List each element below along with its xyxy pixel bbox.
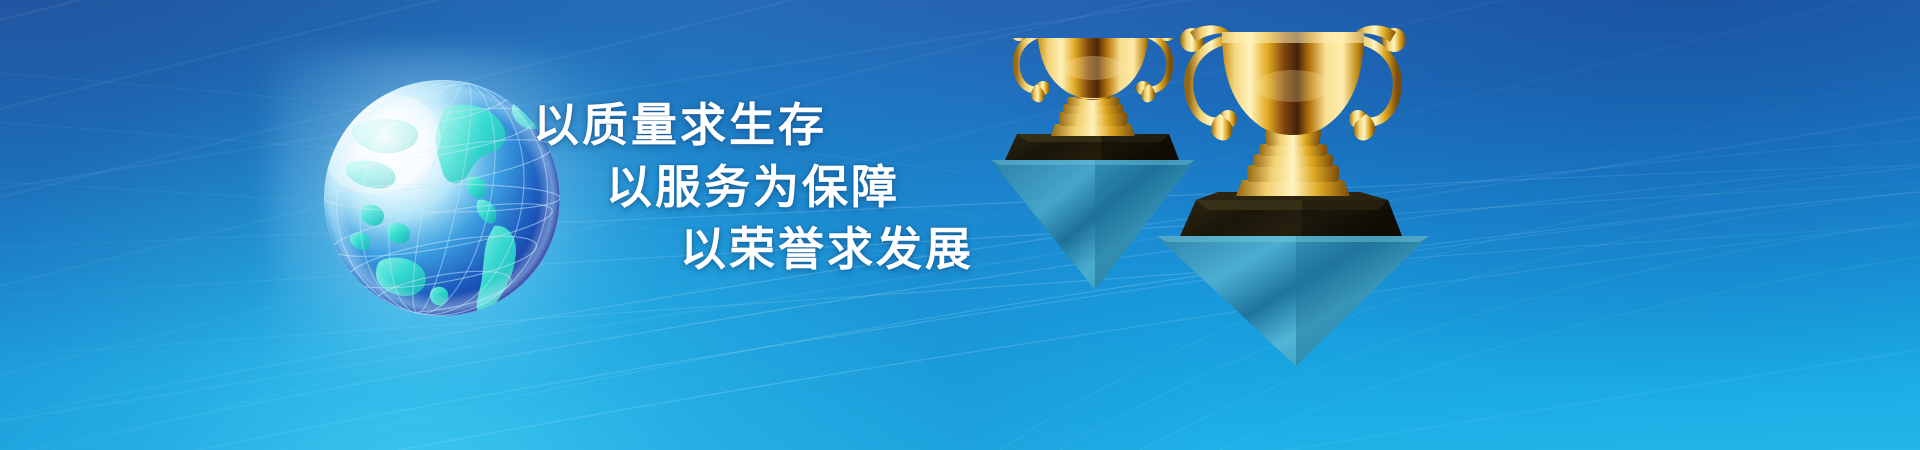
slogan-line-2: 以服务为保障: [606, 164, 900, 210]
trophy-right: [1150, 14, 1435, 369]
promo-banner: 以质量求生存 以服务为保障 以荣誉求发展: [0, 0, 1920, 450]
trophy-cup: [1037, 38, 1149, 98]
trophy-foot: [1236, 135, 1350, 196]
trophy-cup: [1222, 32, 1364, 135]
slogan-line-1: 以质量求生存: [533, 102, 827, 148]
trophy-foot: [1051, 97, 1135, 136]
headline-slogan: 以质量求生存 以服务为保障 以荣誉求发展: [520, 92, 1040, 302]
slogan-line-3: 以荣誉求发展: [680, 226, 974, 272]
trophy-base: [1180, 192, 1402, 236]
pedestal-cone: [1156, 236, 1429, 366]
